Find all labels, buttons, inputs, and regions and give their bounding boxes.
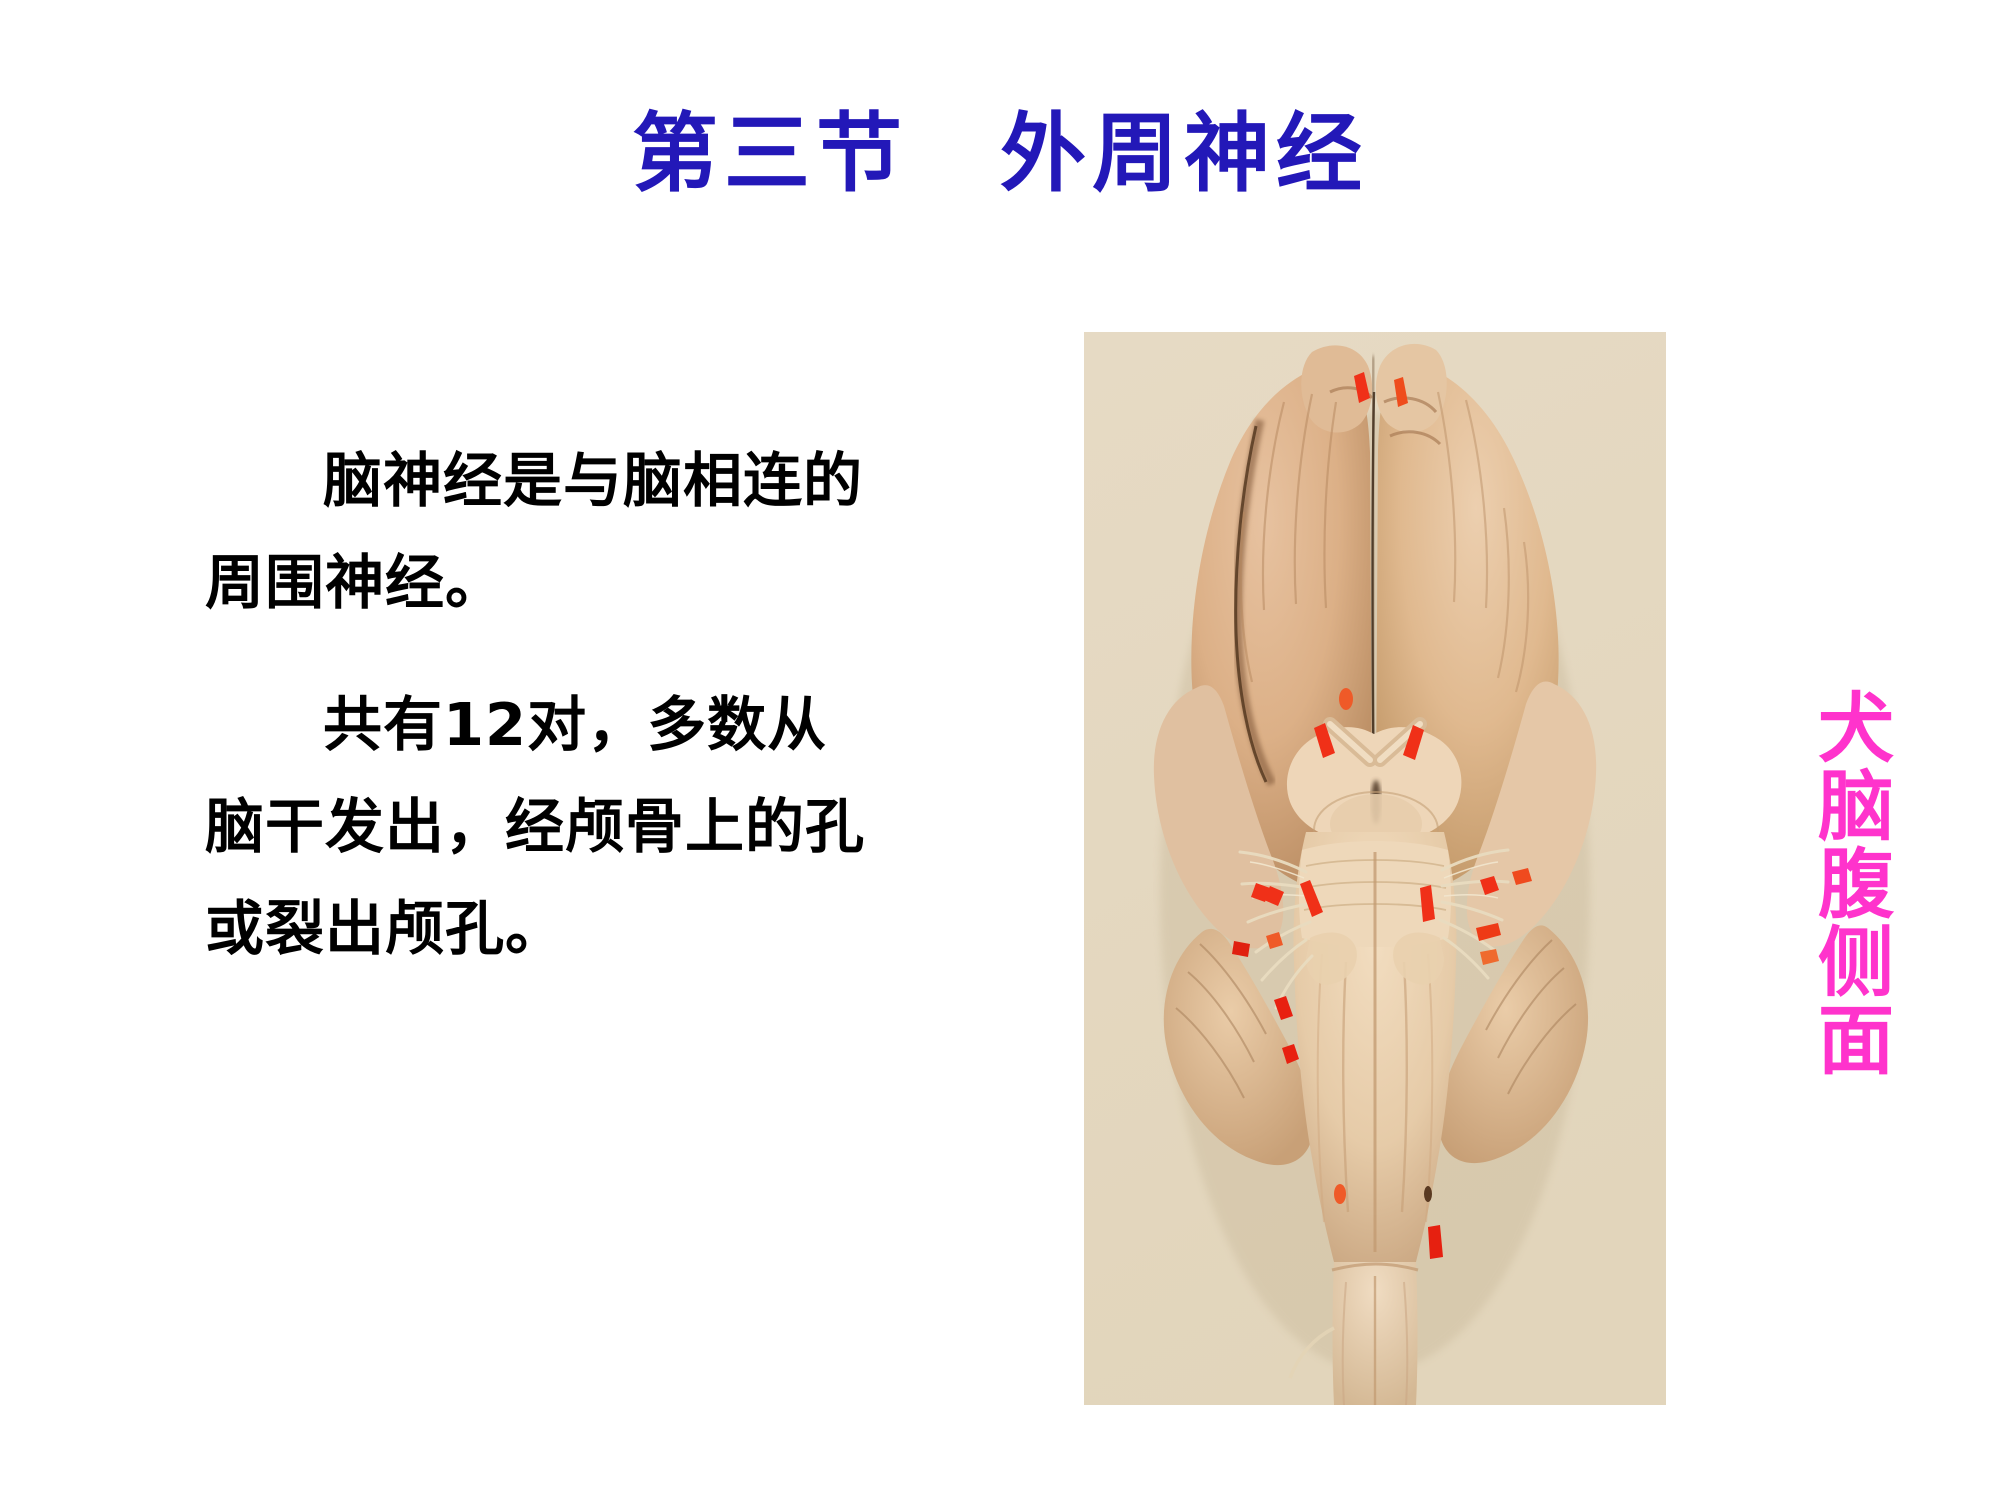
specimen-figure [1084, 332, 1666, 1405]
caption-char-5: 面 [1813, 1002, 1899, 1080]
body-paragraph-2: 共有12对，多数从脑干发出，经颅骨上的孔或裂出颅孔。 [205, 674, 865, 980]
caption-char-4: 侧 [1813, 924, 1899, 1002]
body-paragraph-1: 脑神经是与脑相连的周围神经。 [205, 430, 865, 634]
body-text-block: 脑神经是与脑相连的周围神经。 共有12对，多数从脑干发出，经颅骨上的孔或裂出颅孔… [205, 430, 865, 980]
caption-char-2: 脑 [1813, 768, 1899, 846]
slide-canvas: 第三节 外周神经 脑神经是与脑相连的周围神经。 共有12对，多数从脑干发出，经颅… [0, 0, 2000, 1500]
caption-char-1: 犬 [1813, 690, 1899, 768]
page-title: 第三节 外周神经 [0, 108, 2000, 201]
caption-char-3: 腹 [1813, 846, 1899, 924]
figure-caption-vertical: 犬 脑 腹 侧 面 [1813, 690, 1899, 1080]
dog-brain-ventral-photo [1084, 332, 1666, 1405]
